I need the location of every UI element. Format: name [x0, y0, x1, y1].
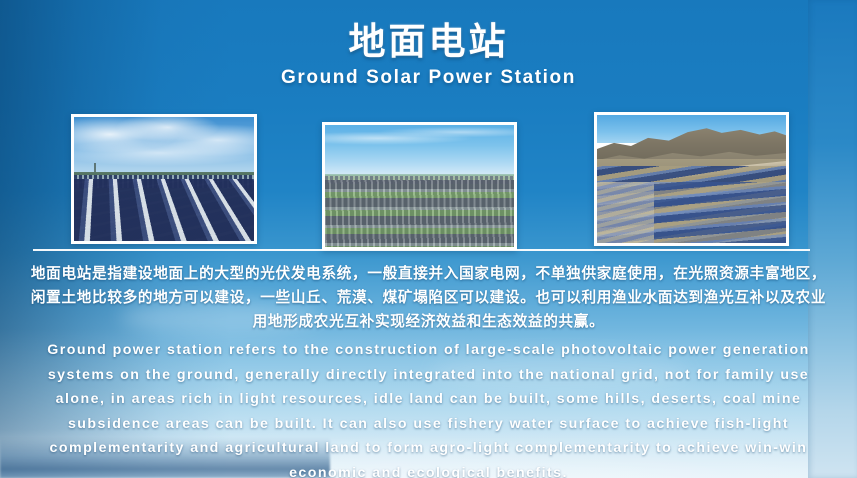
photo1-clouds [74, 117, 254, 175]
description-block: 地面电站是指建设地面上的大型的光伏发电系统，一般直接并入国家电网，不单独供家庭使… [28, 262, 829, 478]
section-divider [33, 249, 810, 251]
photo3-left-arrays [597, 182, 654, 243]
gallery-photo-3-image [597, 115, 786, 243]
photo2-panel-texture [325, 180, 514, 247]
description-paragraph-en: Ground power station refers to the const… [28, 338, 829, 478]
gallery-photo-1-image [74, 117, 254, 241]
gallery-photo-1[interactable] [71, 114, 257, 244]
photo1-solar-panels [74, 179, 254, 241]
description-paragraph-cn: 地面电站是指建设地面上的大型的光伏发电系统，一般直接并入国家电网，不单独供家庭使… [28, 262, 829, 334]
gallery-photo-3[interactable] [594, 112, 789, 246]
photo-gallery [0, 112, 857, 244]
slide-canvas: 地面电站 Ground Solar Power Station [0, 0, 857, 478]
gallery-photo-2[interactable] [322, 122, 517, 250]
gallery-photo-2-image [325, 125, 514, 247]
photo2-cirrus-clouds [325, 125, 514, 176]
